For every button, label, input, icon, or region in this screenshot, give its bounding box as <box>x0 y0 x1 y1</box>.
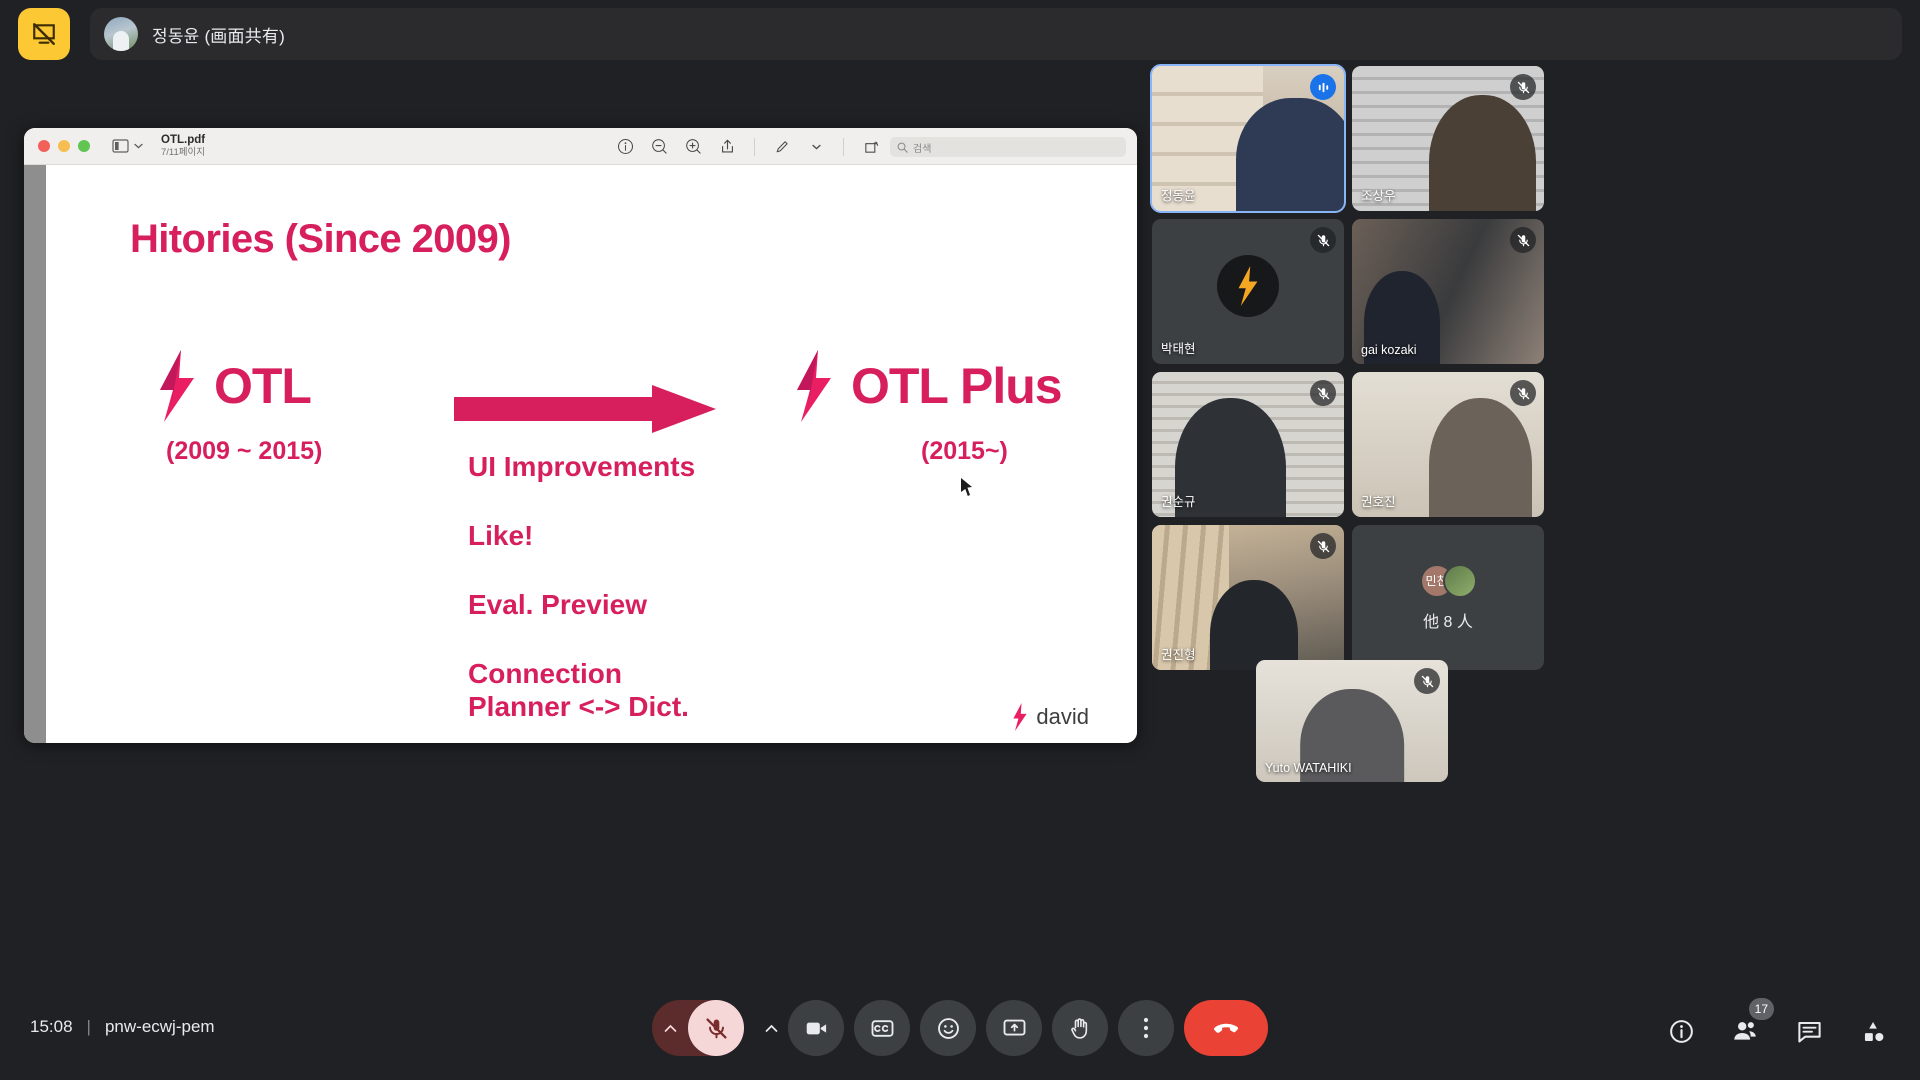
closed-captions-icon <box>870 1016 895 1041</box>
presenter-name: 정동윤 (画面共有) <box>152 22 285 47</box>
presenter-avatar <box>104 17 138 51</box>
brand-otl-label: OTL <box>214 357 311 415</box>
participant-name: 권호진 <box>1361 491 1396 510</box>
more-options-button[interactable] <box>1118 1000 1174 1056</box>
emoji-reactions-button[interactable] <box>920 1000 976 1056</box>
mic-options-chevron-icon[interactable] <box>652 1000 688 1056</box>
document-title-block: OTL.pdf 7/11페이지 <box>161 134 205 157</box>
pdf-left-rail <box>24 165 46 743</box>
overflow-avatar-photo <box>1443 564 1477 598</box>
camera-group <box>754 1000 844 1056</box>
more-vertical-icon <box>1143 1017 1149 1039</box>
bottom-control-bar: 15:08 | pnw-ecwj-pem <box>0 988 1920 1080</box>
otl-plus-bolt-logo-icon <box>791 350 837 422</box>
participant-row: 박태현 gai kozaki <box>1152 219 1900 364</box>
markup-pen-icon[interactable] <box>771 136 793 158</box>
microphone-toggle-button[interactable] <box>688 1000 744 1056</box>
present-screen-icon <box>1002 1016 1027 1041</box>
mouse-cursor-icon <box>961 478 973 496</box>
participant-row: 권진형 민친 他 8 人 <box>1152 525 1900 670</box>
emoji-smile-icon <box>936 1016 961 1041</box>
mic-muted-icon <box>1310 227 1336 253</box>
overflow-count-label: 他 8 人 <box>1423 608 1473 632</box>
brand-otl: OTL <box>154 350 311 422</box>
chat-icon <box>1796 1018 1823 1045</box>
search-icon <box>897 142 908 153</box>
people-button[interactable]: 17 <box>1728 1014 1762 1048</box>
chevron-down-icon[interactable] <box>805 136 827 158</box>
window-traffic-lights[interactable] <box>38 140 90 152</box>
participant-tile-parktaehyun[interactable]: 박태현 <box>1152 219 1344 364</box>
stop-presenting-button[interactable] <box>18 8 70 60</box>
mic-off-icon <box>704 1016 729 1041</box>
participant-tile-kwonhojin[interactable]: 권호진 <box>1352 372 1544 517</box>
participant-tile-kwonjinhyung[interactable]: 권진형 <box>1152 525 1344 670</box>
slide-bullet: Like! <box>468 519 695 552</box>
maximize-icon[interactable] <box>78 140 90 152</box>
participant-name: gai kozaki <box>1361 343 1417 357</box>
document-title: OTL.pdf <box>161 134 205 146</box>
pdf-search-field[interactable]: 검색 <box>890 137 1126 157</box>
hang-up-icon <box>1211 1013 1241 1043</box>
avatar <box>1217 255 1279 317</box>
participant-grid: 정동윤 조상우 박태현 <box>1152 66 1900 678</box>
minimize-icon[interactable] <box>58 140 70 152</box>
meeting-meta: 15:08 | pnw-ecwj-pem <box>30 1017 215 1037</box>
brand-otl-years: (2009 ~ 2015) <box>166 437 322 466</box>
sidebar-toggle-button[interactable] <box>112 139 143 153</box>
self-view-name: Yuto WATAHIKI <box>1265 761 1352 775</box>
sidebar-icon <box>112 139 129 153</box>
people-icon <box>1731 1017 1759 1045</box>
activities-button[interactable] <box>1856 1014 1890 1048</box>
mic-speaking-icon <box>1310 74 1336 100</box>
zoom-in-icon[interactable] <box>682 136 704 158</box>
info-icon[interactable] <box>614 136 636 158</box>
raise-hand-button[interactable] <box>1052 1000 1108 1056</box>
overflow-participants-tile[interactable]: 민친 他 8 人 <box>1352 525 1544 670</box>
chevron-down-icon <box>134 143 143 149</box>
info-icon <box>1668 1018 1695 1045</box>
screen-share-off-icon <box>31 21 57 47</box>
slide-title: Hitories (Since 2009) <box>130 217 511 262</box>
presenter-pill[interactable]: 정동윤 (画面共有) <box>90 8 1902 60</box>
david-bolt-logo-icon <box>1011 703 1029 731</box>
toolbar-divider <box>843 138 844 156</box>
brand-otl-plus-label: OTL Plus <box>851 357 1062 415</box>
slide-footer-label: david <box>1036 704 1089 730</box>
hang-up-button[interactable] <box>1184 1000 1268 1056</box>
participant-tile-gaikozaki[interactable]: gai kozaki <box>1352 219 1544 364</box>
slide-bullet: UI Improvements <box>468 450 695 483</box>
pdf-toolbar: OTL.pdf 7/11페이지 <box>24 128 1137 165</box>
participant-name: 권순규 <box>1161 491 1196 510</box>
camera-options-chevron-icon[interactable] <box>754 1000 788 1056</box>
participant-tile-jeongdongyun[interactable]: 정동윤 <box>1152 66 1344 211</box>
pdf-body: Hitories (Since 2009) OTL (2009 ~ 2015) <box>24 165 1137 743</box>
mic-muted-icon <box>1310 380 1336 406</box>
participant-name: 권진형 <box>1161 644 1196 663</box>
slide-bullet: Eval. Preview <box>468 588 695 621</box>
page-indicator: 7/11페이지 <box>161 148 205 158</box>
slide-bullet-list: UI Improvements Like! Eval. Preview Conn… <box>468 450 695 743</box>
closed-captions-button[interactable] <box>854 1000 910 1056</box>
right-controls: 17 <box>1664 1014 1890 1048</box>
mic-muted-icon <box>1510 380 1536 406</box>
participant-tile-kwonsoonkyu[interactable]: 권순규 <box>1152 372 1344 517</box>
bolt-avatar-icon <box>1231 266 1265 306</box>
rotate-icon[interactable] <box>860 136 882 158</box>
meeting-details-info-button[interactable] <box>1664 1014 1698 1048</box>
slide-bullet: Connection Planner <-> Dict. <box>468 657 695 723</box>
pdf-preview-window: OTL.pdf 7/11페이지 <box>24 128 1137 743</box>
slide-footer-mark: david <box>1011 703 1089 731</box>
overflow-avatars: 민친 <box>1420 564 1477 598</box>
otl-bolt-logo-icon <box>154 350 200 422</box>
right-arrow-icon <box>454 385 716 433</box>
center-controls <box>652 1000 1268 1056</box>
participant-name: 정동윤 <box>1161 185 1196 204</box>
camera-icon <box>804 1016 829 1041</box>
google-meet-window: 정동윤 (画面共有) <box>0 0 1920 1080</box>
mic-muted-icon <box>1510 74 1536 100</box>
self-view-tile[interactable]: Yuto WATAHIKI <box>1256 660 1448 782</box>
chat-button[interactable] <box>1792 1014 1826 1048</box>
pdf-page-canvas[interactable]: Hitories (Since 2009) OTL (2009 ~ 2015) <box>46 165 1137 743</box>
camera-toggle-button[interactable] <box>788 1000 844 1056</box>
participant-name: 조상우 <box>1361 185 1396 204</box>
close-icon[interactable] <box>38 140 50 152</box>
brand-otl-plus-years: (2015~) <box>921 437 1008 466</box>
share-icon[interactable] <box>716 136 738 158</box>
mic-muted-icon <box>1310 533 1336 559</box>
mic-muted-icon <box>1414 668 1440 694</box>
participant-row: 권순규 권호진 <box>1152 372 1900 517</box>
meta-separator: | <box>87 1017 91 1037</box>
people-count-badge: 17 <box>1749 998 1774 1020</box>
shared-screen-stage[interactable]: OTL.pdf 7/11페이지 <box>0 68 1150 988</box>
microphone-group <box>652 1000 744 1056</box>
mic-muted-icon <box>1510 227 1536 253</box>
participant-tile-josangwoo[interactable]: 조상우 <box>1352 66 1544 211</box>
toolbar-divider <box>754 138 755 156</box>
top-bar: 정동윤 (画面共有) <box>0 0 1920 68</box>
present-screen-button[interactable] <box>986 1000 1042 1056</box>
participant-name: 박태현 <box>1161 338 1196 357</box>
activities-icon <box>1860 1018 1887 1045</box>
participant-row: 정동윤 조상우 <box>1152 66 1900 211</box>
brand-otl-plus: OTL Plus <box>791 350 1062 422</box>
zoom-out-icon[interactable] <box>648 136 670 158</box>
meeting-code: pnw-ecwj-pem <box>105 1017 215 1037</box>
pdf-search-placeholder: 검색 <box>913 140 931 155</box>
raise-hand-icon <box>1068 1016 1093 1041</box>
clock: 15:08 <box>30 1017 73 1037</box>
